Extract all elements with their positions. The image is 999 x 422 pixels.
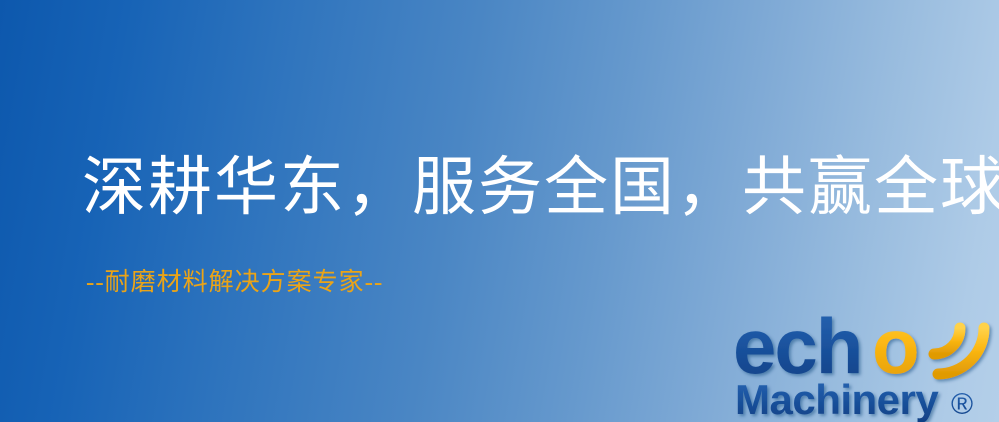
- logo-wordmark-machinery: Machinery: [735, 376, 939, 422]
- banner-headline: 深耕华东，服务全国，共赢全球: [82, 152, 999, 224]
- logo-registered-mark: ®: [951, 388, 973, 421]
- promotional-banner: 深耕华东，服务全国，共赢全球 --耐磨材料解决方案专家--: [0, 0, 999, 422]
- echo-wave-icon: [934, 328, 984, 374]
- banner-subtitle: --耐磨材料解决方案专家--: [86, 268, 383, 298]
- echo-machinery-logo: ech o Machinery ®: [729, 298, 999, 422]
